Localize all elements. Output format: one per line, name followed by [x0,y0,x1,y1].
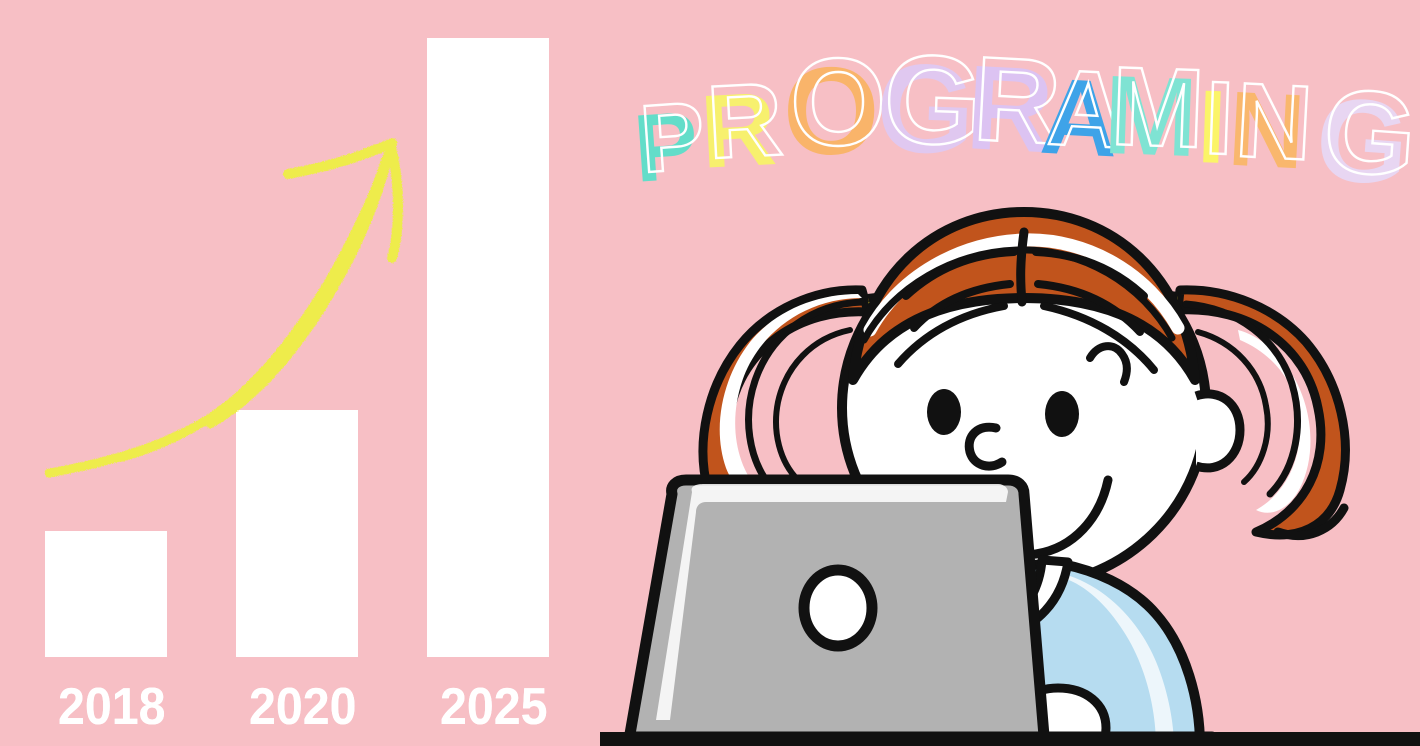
year-label-2020: 2020 [249,681,357,733]
wordart-letter-outline: R [705,68,785,176]
right-eye [1045,391,1079,437]
year-label-2025: 2025 [440,681,548,733]
character-girl-at-laptop [600,180,1420,746]
bar-2020 [236,410,358,657]
ear [1196,394,1240,468]
bar-2025 [427,38,549,657]
wordart-letter-outline: P [637,88,708,188]
wordart-letter-outline: M [1109,50,1206,165]
year-label-2018: 2018 [58,681,166,733]
left-eye [927,389,961,435]
illustration-canvas: 2018 2020 2025 [0,0,1420,746]
bar-2018 [45,531,167,657]
bar-chart: 2018 2020 2025 [0,0,620,746]
wordart-letter-outline: N [1233,67,1315,177]
wordart-letter-outline: G [1320,71,1420,195]
wordart-letter-outline: O [790,41,886,165]
desk-surface [600,732,1420,746]
laptop-logo [804,570,872,646]
